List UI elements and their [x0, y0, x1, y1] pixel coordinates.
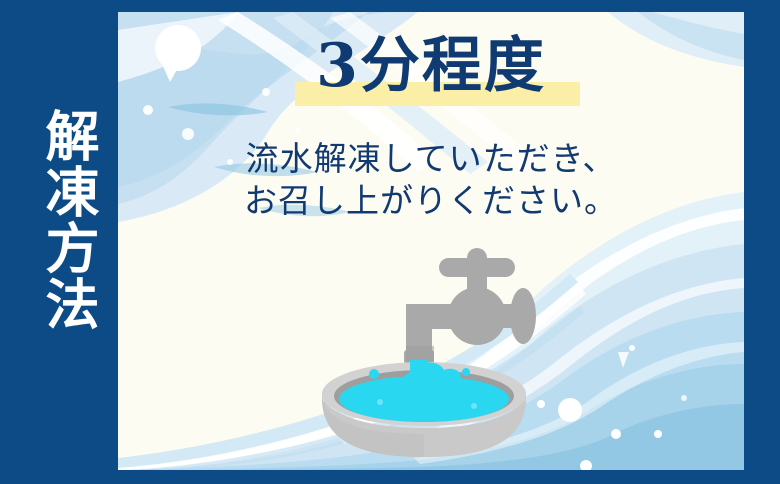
instruction-line-2: お召し上がりください。 — [118, 180, 744, 222]
bowl-icon — [322, 360, 526, 457]
faucet-bowl-illustration — [314, 242, 574, 457]
instruction-line-1: 流水解凍していただき、 — [118, 138, 744, 180]
vertical-section-title: 解凍方法 — [24, 108, 96, 332]
headline-duration: 3分程度 — [118, 36, 744, 96]
content-panel: 3分程度 流水解凍していただき、 お召し上がりください。 — [118, 12, 744, 470]
faucet-icon — [404, 248, 536, 364]
promo-card: 解凍方法 — [0, 0, 780, 484]
